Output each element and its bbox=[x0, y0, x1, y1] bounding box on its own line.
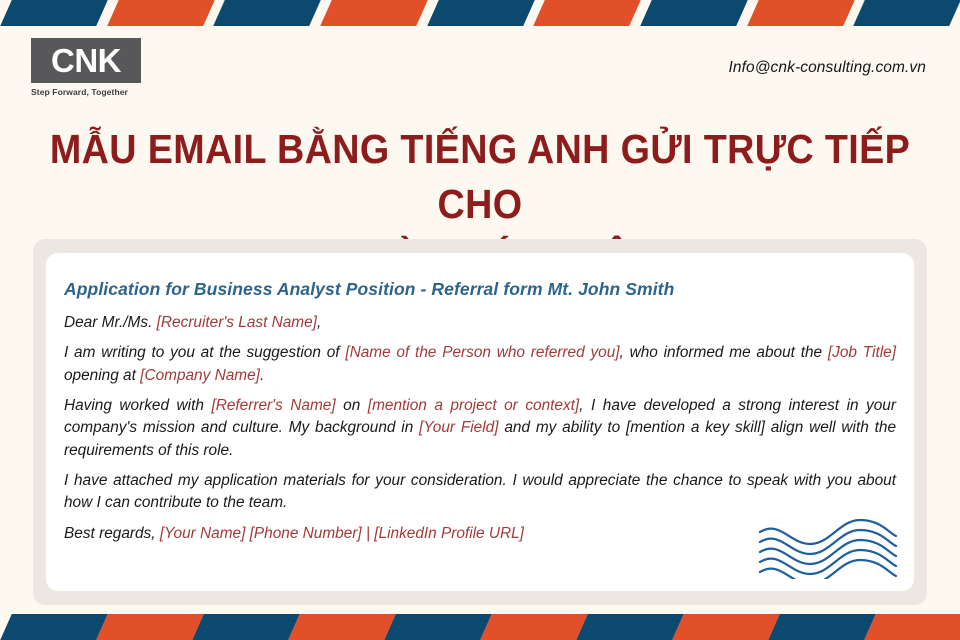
logo-tagline: Step Forward, Together bbox=[31, 87, 141, 97]
text-run: opening at bbox=[64, 367, 140, 384]
decor-stripe bbox=[94, 614, 205, 640]
decor-stripe bbox=[190, 614, 301, 640]
decor-stripe bbox=[745, 0, 856, 26]
paragraph-signature: Best regards, [Your Name] [Phone Number]… bbox=[64, 523, 896, 545]
page-title-line-1: MẪU EMAIL BẰNG TIẾNG ANH GỬI TRỰC TIẾP C… bbox=[38, 122, 921, 231]
text-run: on bbox=[336, 397, 368, 414]
card-body: Dear Mr./Ms. [Recruiter's Last Name],I a… bbox=[64, 312, 896, 545]
placeholder-token: [Recruiter's Last Name] bbox=[157, 314, 317, 331]
text-run: I have attached my application materials… bbox=[64, 472, 896, 511]
decor-stripe bbox=[532, 0, 643, 26]
decor-stripe bbox=[425, 0, 536, 26]
decor-stripe bbox=[478, 614, 589, 640]
text-run: , who informed me about the bbox=[620, 344, 828, 361]
decor-stripe bbox=[286, 614, 397, 640]
top-stripe-band bbox=[0, 0, 960, 26]
logo-box: CNK bbox=[31, 38, 141, 83]
decor-stripe bbox=[318, 0, 429, 26]
email-template-card: Application for Business Analyst Positio… bbox=[46, 253, 914, 591]
placeholder-token: [Your Name] [Phone Number] | [LinkedIn P… bbox=[160, 525, 524, 542]
bottom-stripe-band bbox=[0, 614, 960, 640]
card-subject-line: Application for Business Analyst Positio… bbox=[64, 279, 896, 300]
placeholder-token: [Name of the Person who referred you] bbox=[345, 344, 619, 361]
text-run: Having worked with bbox=[64, 397, 211, 414]
contact-email: Info@cnk-consulting.com.vn bbox=[728, 59, 926, 77]
decor-stripe bbox=[212, 0, 323, 26]
text-run: I am writing to you at the suggestion of bbox=[64, 344, 345, 361]
brand-logo: CNK Step Forward, Together bbox=[31, 38, 141, 97]
paragraph-intro: I am writing to you at the suggestion of… bbox=[64, 342, 896, 387]
text-run: Dear Mr./Ms. bbox=[64, 314, 157, 331]
decor-stripe bbox=[670, 614, 781, 640]
placeholder-token: [mention a project or context] bbox=[368, 397, 579, 414]
decor-stripe bbox=[105, 0, 216, 26]
paragraph-body: Having worked with [Referrer's Name] on … bbox=[64, 395, 896, 462]
paragraph-salutation: Dear Mr./Ms. [Recruiter's Last Name], bbox=[64, 312, 896, 334]
placeholder-token: [Company Name] bbox=[140, 367, 260, 384]
placeholder-token: [Referrer's Name] bbox=[211, 397, 335, 414]
logo-wordmark: CNK bbox=[51, 44, 121, 77]
placeholder-token: [Job Title] bbox=[828, 344, 896, 361]
decor-stripe bbox=[0, 614, 110, 640]
paragraph-closing: I have attached my application materials… bbox=[64, 470, 896, 515]
text-run: , bbox=[317, 314, 321, 331]
placeholder-token: [Your Field] bbox=[419, 419, 498, 436]
decor-stripe bbox=[574, 614, 685, 640]
decor-stripe bbox=[766, 614, 877, 640]
decor-stripe bbox=[638, 0, 749, 26]
text-run: . bbox=[260, 367, 264, 384]
decor-stripe bbox=[0, 0, 110, 26]
decor-stripe bbox=[382, 614, 493, 640]
decor-stripe bbox=[852, 0, 960, 26]
text-run: Best regards, bbox=[64, 525, 160, 542]
decor-stripe bbox=[862, 614, 960, 640]
